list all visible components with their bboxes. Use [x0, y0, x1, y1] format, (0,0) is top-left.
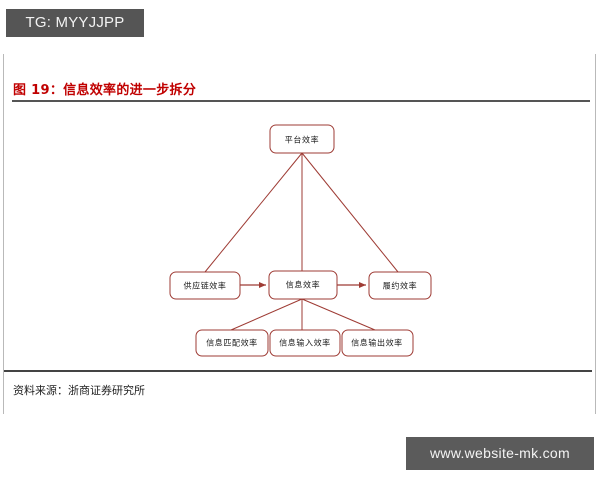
node-fulfillment[interactable]: 履约效率 — [369, 272, 431, 299]
node-info-output[interactable]: 信息输出效率 — [342, 330, 413, 356]
connector-information-to-info-output — [302, 299, 375, 330]
diagram-canvas: 平台效率 供应链效率 信息效率 履约效率 信息匹配效率 信息输入效率 信息输出效… — [0, 0, 600, 480]
watermark-url: www.website-mk.com — [406, 437, 594, 470]
connector-platform-to-fulfillment — [302, 153, 398, 272]
node-info-input[interactable]: 信息输入效率 — [270, 330, 340, 356]
node-info-output-label: 信息输出效率 — [351, 338, 403, 348]
node-info-match-label: 信息匹配效率 — [206, 338, 258, 348]
source-note: 资料来源：浙商证券研究所 — [13, 382, 145, 398]
node-information-label: 信息效率 — [286, 280, 320, 290]
node-info-input-label: 信息输入效率 — [279, 338, 331, 348]
node-platform-label: 平台效率 — [285, 135, 319, 145]
node-supply-chain-label: 供应链效率 — [184, 281, 227, 291]
node-information[interactable]: 信息效率 — [269, 271, 337, 299]
connector-platform-to-supply-chain — [205, 153, 302, 272]
node-supply-chain[interactable]: 供应链效率 — [170, 272, 240, 299]
node-fulfillment-label: 履约效率 — [383, 281, 417, 291]
node-info-match[interactable]: 信息匹配效率 — [196, 330, 268, 356]
connector-information-to-info-match — [231, 299, 302, 330]
footer-divider — [4, 370, 592, 372]
diagram-connectors — [205, 153, 398, 330]
node-platform[interactable]: 平台效率 — [270, 125, 334, 153]
diagram-nodes: 平台效率 供应链效率 信息效率 履约效率 信息匹配效率 信息输入效率 信息输出效… — [170, 125, 431, 356]
